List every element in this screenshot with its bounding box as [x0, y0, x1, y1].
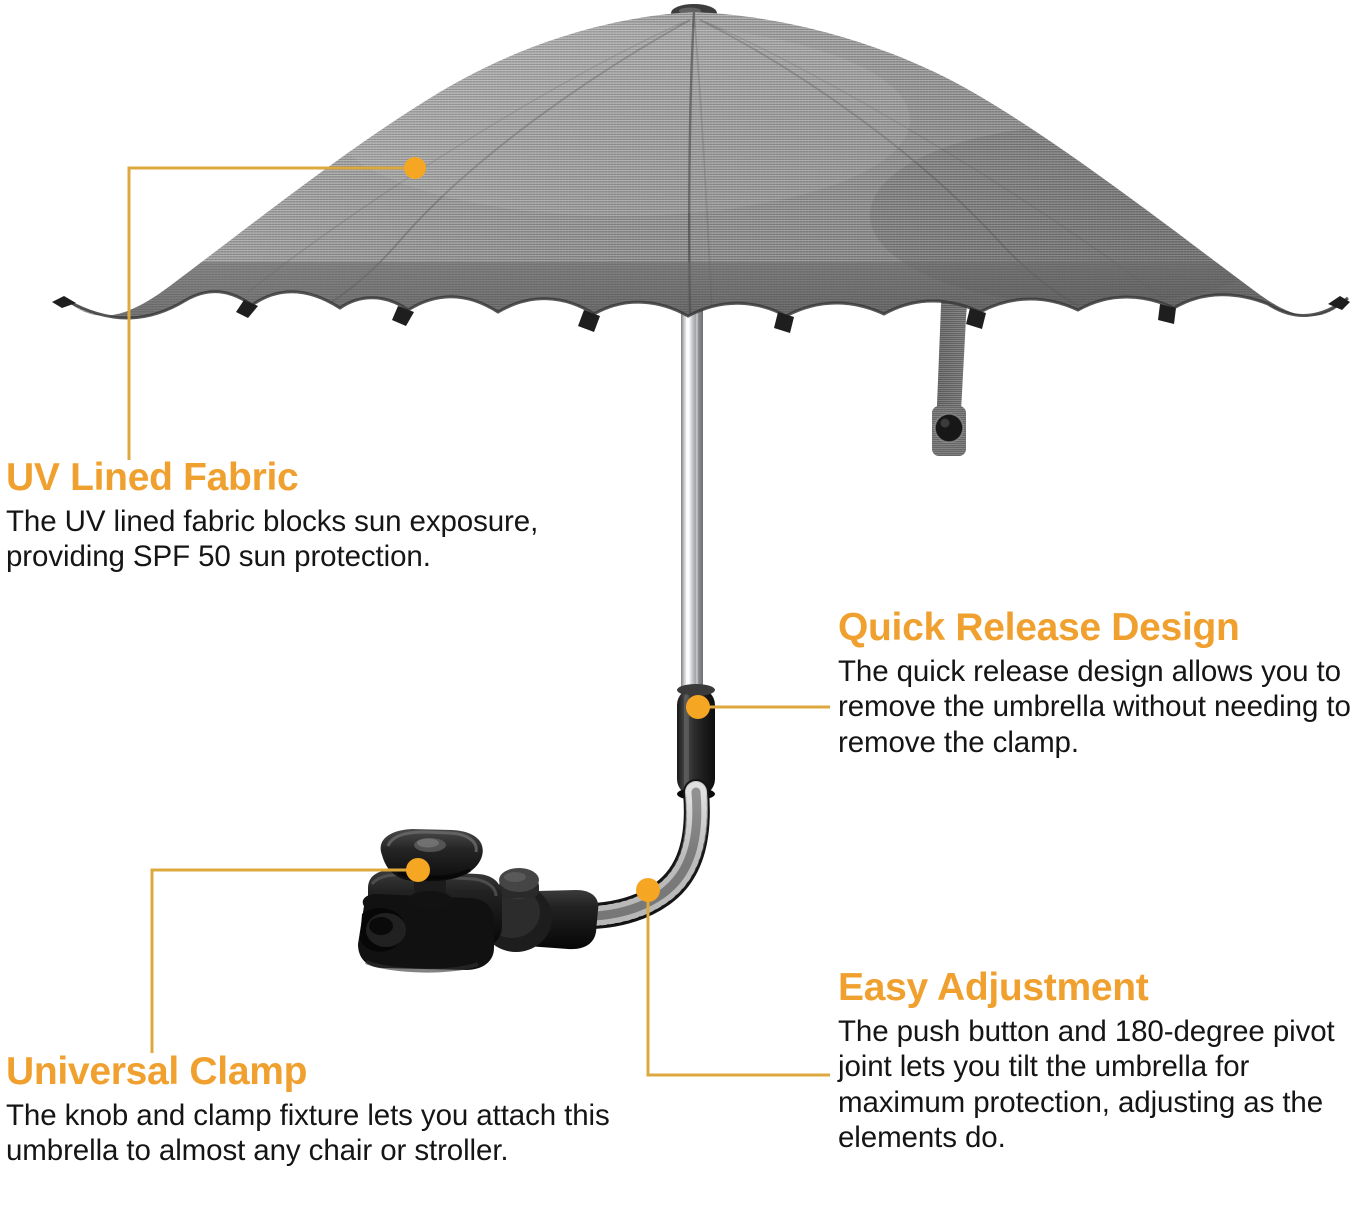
callout-title: Universal Clamp	[6, 1052, 626, 1092]
callout-title: Easy Adjustment	[838, 968, 1359, 1008]
marker-dot-quick-release-design	[686, 695, 710, 719]
marker-dot-uv-lined-fabric	[404, 157, 426, 179]
leader-line-easy-adjustment	[648, 890, 830, 1075]
callout-body: The quick release design allows you to r…	[838, 654, 1359, 760]
leader-line-uv-lined-fabric	[129, 168, 415, 460]
callout-title: UV Lined Fabric	[6, 458, 626, 498]
callout-easy-adjustment: Easy Adjustment The push button and 180-…	[838, 968, 1359, 1155]
callout-body: The push button and 180-degree pivot joi…	[838, 1014, 1359, 1156]
marker-dot-easy-adjustment	[636, 878, 660, 902]
callout-body: The UV lined fabric blocks sun exposure,…	[6, 504, 626, 575]
callout-quick-release-design: Quick Release Design The quick release d…	[838, 608, 1359, 760]
callout-body: The knob and clamp fixture lets you atta…	[6, 1098, 626, 1169]
callout-uv-lined-fabric: UV Lined Fabric The UV lined fabric bloc…	[6, 458, 626, 575]
leader-line-universal-clamp	[152, 870, 418, 1053]
callout-title: Quick Release Design	[838, 608, 1359, 648]
marker-dot-universal-clamp	[406, 858, 430, 882]
callout-universal-clamp: Universal Clamp The knob and clamp fixtu…	[6, 1052, 626, 1169]
infographic-page: UV Lined Fabric The UV lined fabric bloc…	[0, 0, 1359, 1226]
